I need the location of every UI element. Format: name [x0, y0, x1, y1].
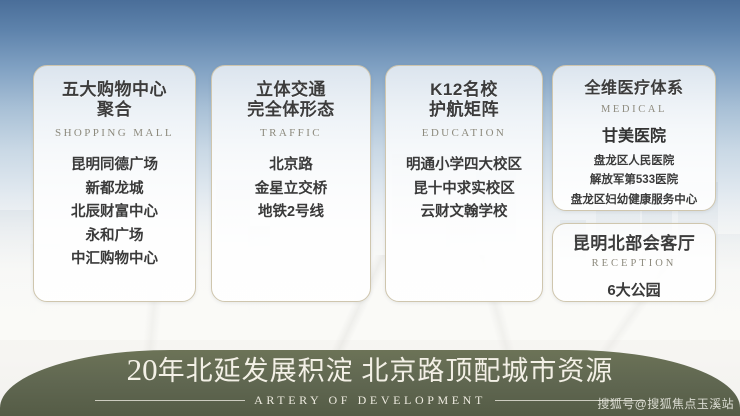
card-subtitle: TRAFFIC [218, 127, 364, 139]
card-reception: 昆明北部会客厅 RECEPTION 6大公园 [552, 223, 716, 302]
card-item-list: 6大公园 [559, 279, 709, 303]
card-title: K12名校 护航矩阵 [392, 80, 536, 120]
card-medical: 全维医疗体系 MEDICAL 甘美医院 盘龙区人民医院 解放军第533医院 盘龙… [552, 65, 716, 211]
card-lead-item: 甘美医院 [559, 127, 709, 148]
card-subtitle: EDUCATION [392, 127, 536, 139]
card-traffic: 立体交通 完全体形态 TRAFFIC 北京路 金星立交桥 地铁2号线 [211, 65, 371, 302]
watermark-text: 搜狐号@搜狐焦点玉溪站 [597, 395, 734, 412]
banner-headline: 20年北延发展积淀 北京路顶配城市资源 [0, 354, 740, 387]
list-item: 永和广场 [40, 225, 189, 248]
list-item: 北辰财富中心 [40, 201, 189, 224]
card-education: K12名校 护航矩阵 EDUCATION 明通小学四大校区 昆十中求实校区 云财… [385, 65, 543, 302]
card-title: 五大购物中心 聚合 [40, 80, 189, 120]
list-item: 中汇购物中心 [40, 248, 189, 271]
list-item: 北京路 [218, 154, 364, 177]
list-item: 明通小学四大校区 [392, 154, 536, 177]
card-title: 立体交通 完全体形态 [218, 80, 364, 120]
list-item: 昆十中求实校区 [392, 178, 536, 201]
list-item: 新都龙城 [40, 178, 189, 201]
divider-left [95, 400, 245, 401]
card-item-list: 北京路 金星立交桥 地铁2号线 [218, 154, 364, 224]
poster-canvas: 五大购物中心 聚合 SHOPPING MALL 昆明同德广场 新都龙城 北辰财富… [0, 0, 740, 416]
banner-headline-text: 年北延发展积淀 北京路顶配城市资源 [158, 356, 614, 386]
list-item: 6大公园 [559, 279, 709, 303]
list-item: 解放军第533医院 [559, 171, 709, 191]
bottom-banner: 20年北延发展积淀 北京路顶配城市资源 ARTERY OF DEVELOPMEN… [0, 350, 740, 416]
list-item: 云财文翰学校 [392, 201, 536, 224]
list-item: 金星立交桥 [218, 178, 364, 201]
list-item: 地铁2号线 [218, 201, 364, 224]
card-shopping-mall: 五大购物中心 聚合 SHOPPING MALL 昆明同德广场 新都龙城 北辰财富… [33, 65, 196, 302]
card-subtitle: RECEPTION [559, 258, 709, 269]
card-item-list: 明通小学四大校区 昆十中求实校区 云财文翰学校 [392, 154, 536, 224]
list-item: 昆明同德广场 [40, 154, 189, 177]
card-item-list: 昆明同德广场 新都龙城 北辰财富中心 永和广场 中汇购物中心 [40, 154, 189, 271]
list-item: 盘龙区人民医院 [559, 152, 709, 172]
banner-subtitle: ARTERY OF DEVELOPMENT [254, 393, 486, 408]
card-subtitle: MEDICAL [559, 104, 709, 115]
card-title: 昆明北部会客厅 [559, 234, 709, 254]
card-subtitle: SHOPPING MALL [40, 127, 189, 139]
list-item: 盘龙区妇幼健康服务中心 [559, 191, 709, 211]
banner-number: 20 [127, 352, 158, 387]
card-title: 全维医疗体系 [559, 80, 709, 99]
card-item-list: 盘龙区人民医院 解放军第533医院 盘龙区妇幼健康服务中心 [559, 152, 709, 211]
